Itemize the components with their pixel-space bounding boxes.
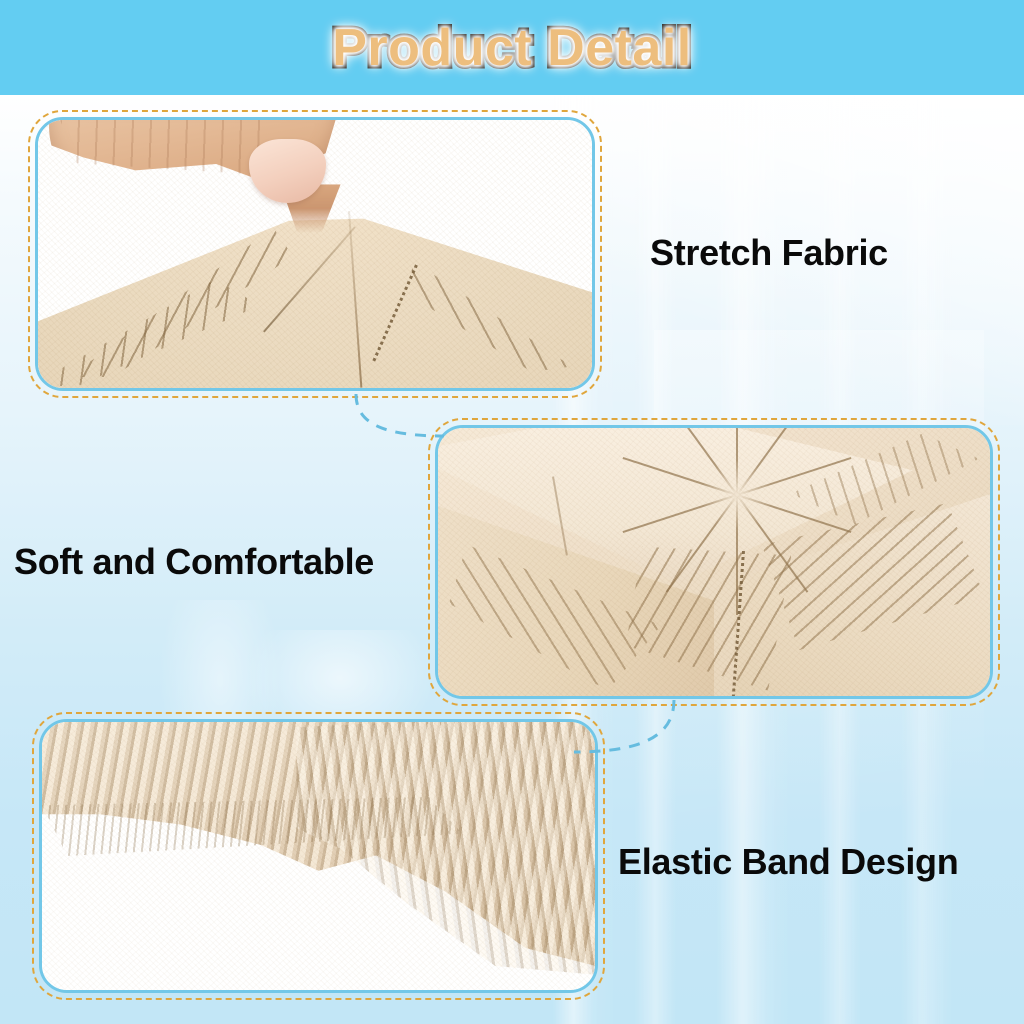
feature-panel-stretch-fabric bbox=[28, 110, 602, 398]
feature-panel-soft-and-comfortable bbox=[428, 418, 1000, 706]
feature-image-soft-and-comfortable bbox=[435, 425, 993, 699]
header-banner: Product Detail bbox=[0, 0, 1024, 95]
feature-label-stretch-fabric: Stretch Fabric bbox=[650, 232, 888, 274]
feature-panel-elastic-band-design bbox=[32, 712, 605, 1000]
feature-image-stretch-fabric bbox=[35, 117, 595, 391]
fabric-fuzz-texture bbox=[438, 428, 990, 696]
fabric-fuzz-texture bbox=[42, 722, 595, 990]
feature-label-elastic-band-design: Elastic Band Design bbox=[618, 841, 958, 883]
page-title: Product Detail bbox=[332, 18, 692, 78]
feature-image-elastic-band-design bbox=[39, 719, 598, 993]
product-detail-page: Product Detail bbox=[0, 0, 1024, 1024]
feature-label-soft-and-comfortable: Soft and Comfortable bbox=[14, 541, 374, 583]
